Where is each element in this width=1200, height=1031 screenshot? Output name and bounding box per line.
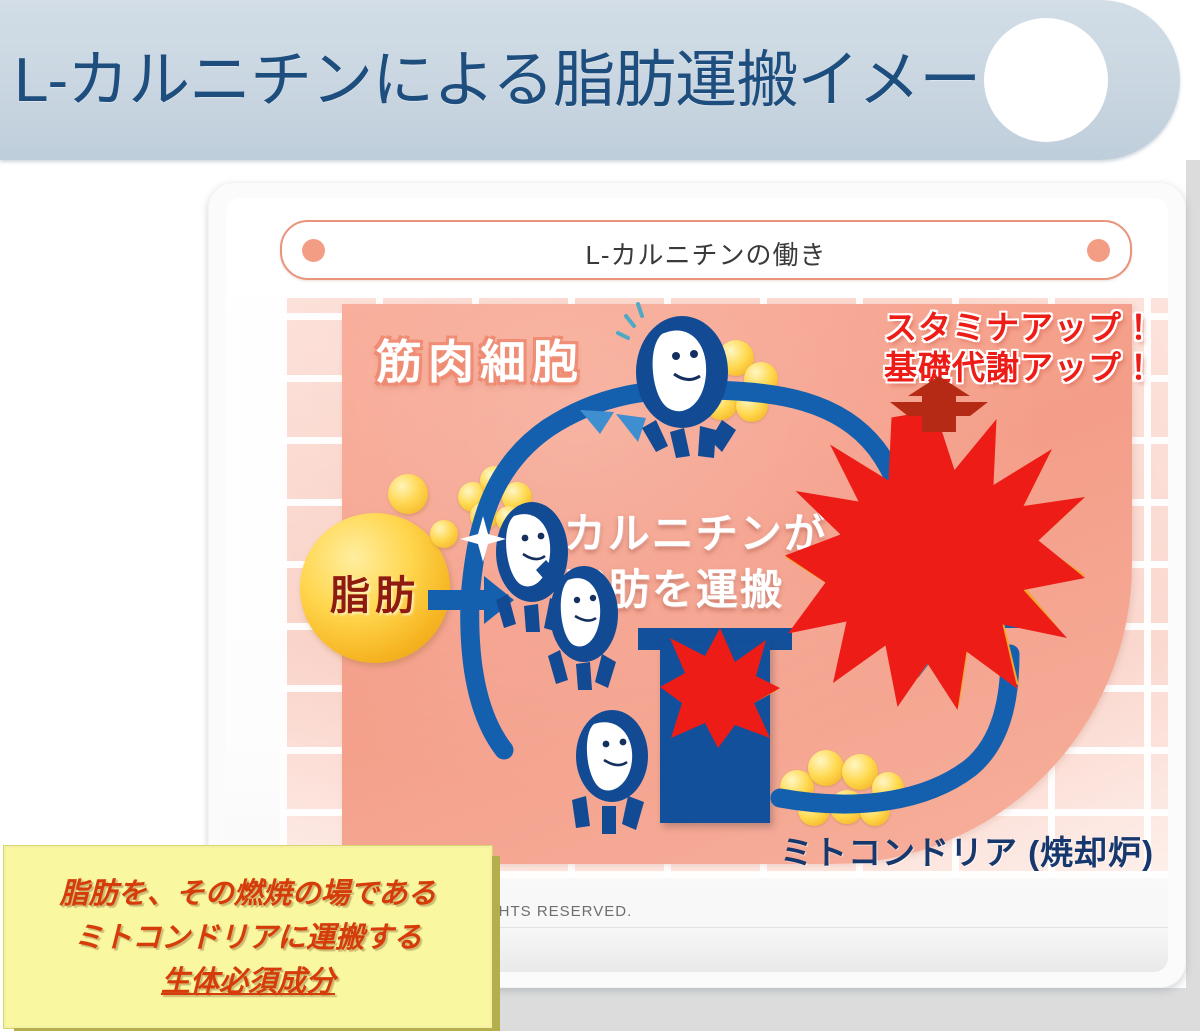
mascot-carnitine-top bbox=[626, 308, 744, 458]
callout-box: 脂肪を、その燃焼の場である ミトコンドリアに運搬する 生体必須成分 bbox=[4, 846, 492, 1028]
callout-line-3: 生体必須成分 bbox=[6, 960, 490, 1004]
callout-text: 脂肪を、その燃焼の場である ミトコンドリアに運搬する 生体必須成分 bbox=[6, 872, 490, 1004]
label-mitochondria: ミトコンドリア (焼却炉) bbox=[780, 826, 1154, 874]
callout-line-1: 脂肪を、その燃焼の場である bbox=[6, 872, 490, 916]
mascot-carnitine-bottom-left bbox=[538, 556, 630, 692]
mascot-carnitine-mitochondria bbox=[566, 702, 662, 834]
copyright-text: GHTS RESERVED. bbox=[486, 903, 632, 920]
header-banner: L-カルニチンによる脂肪運搬イメージ bbox=[0, 0, 1180, 160]
starburst-big bbox=[785, 410, 1085, 710]
page-background-right bbox=[1186, 160, 1200, 1031]
white-circle-icon bbox=[984, 18, 1108, 142]
starburst-small bbox=[660, 628, 780, 748]
section-title-pill: L-カルニチンの働き bbox=[280, 220, 1132, 280]
sparkle-icon bbox=[460, 516, 506, 562]
section-title-text: L-カルニチンの働き bbox=[282, 235, 1130, 272]
diagram-stage: 筋肉細胞 スタミナアップ！ 基礎代謝アップ！ L-カルニチンが 脂肪を運搬 脂肪 bbox=[280, 298, 1168, 878]
callout-line-2: ミトコンドリアに運搬する bbox=[6, 916, 490, 960]
page-title: L-カルニチンによる脂肪運搬イメージ bbox=[14, 46, 1040, 116]
heat-release-arrow bbox=[884, 376, 994, 438]
